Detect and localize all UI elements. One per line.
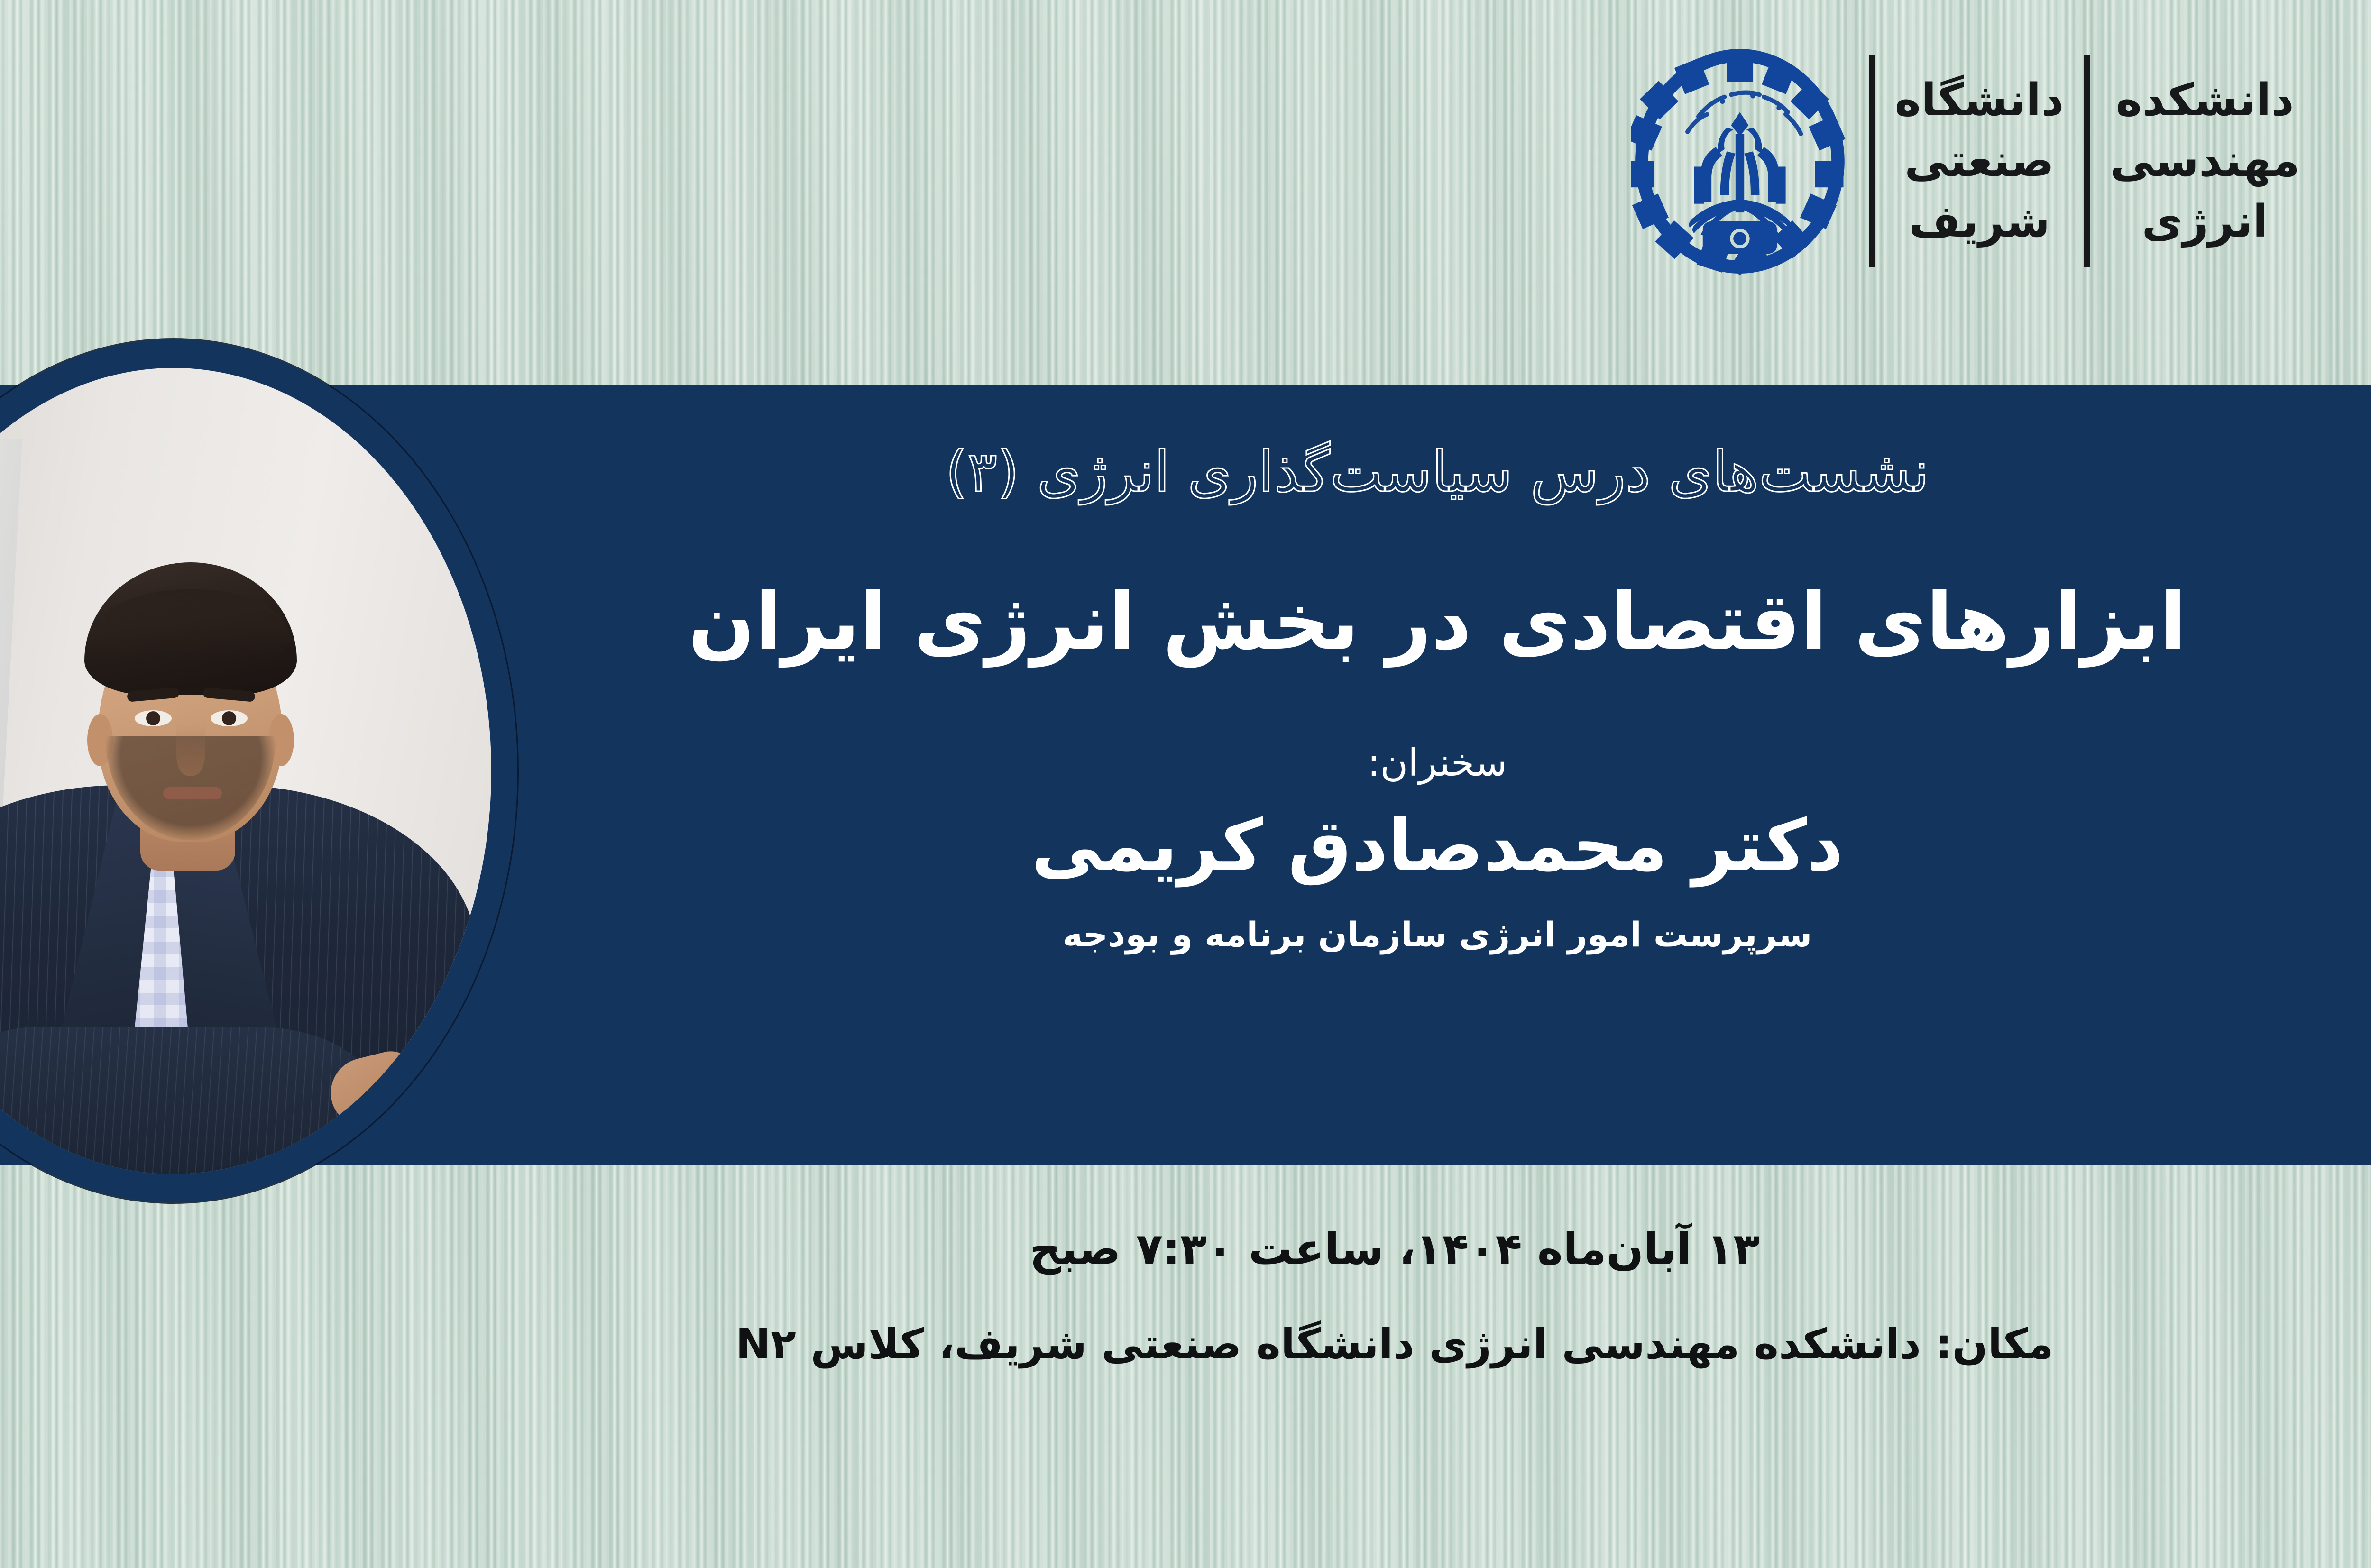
sharif-university-logo-icon xyxy=(1631,43,1849,280)
photo-eye-right xyxy=(211,710,248,726)
photo-crossed-arms xyxy=(0,1027,382,1174)
faculty-line-2: مهندسی xyxy=(2110,131,2300,192)
university-line-3: شریف xyxy=(1909,192,2050,252)
photo-mouth xyxy=(163,787,222,799)
speaker-name: دکتر محمدصادق کریمی xyxy=(574,805,2300,887)
series-subtitle: نشست‌های درس سیاست‌گذاری انرژی (۳) xyxy=(574,413,2300,507)
header-divider-left xyxy=(2084,55,2090,267)
poster-footer: ۱۳ آبان‌ماه ۱۴۰۴، ساعت ۷:۳۰ صبح مکان: دا… xyxy=(489,1223,2300,1369)
faculty-name-column: دانشکده مهندسی انرژی xyxy=(2110,70,2300,252)
speaker-portrait-frame xyxy=(0,339,517,1202)
event-poster: دانشکده مهندسی انرژی دانشگاه صنعتی شریف xyxy=(0,0,2371,1568)
university-line-1: دانشگاه xyxy=(1895,70,2064,131)
event-date-time: ۱۳ آبان‌ماه ۱۴۰۴، ساعت ۷:۳۰ صبح xyxy=(489,1223,2300,1275)
page-title: ابزارهای اقتصادی در بخش انرژی ایران xyxy=(574,575,2300,669)
header-divider-right xyxy=(1869,55,1875,267)
university-name-column: دانشگاه صنعتی شریف xyxy=(1895,70,2064,252)
speaker-portrait-photo xyxy=(0,368,491,1174)
faculty-line-1: دانشکده xyxy=(2116,70,2294,131)
band-text-block: نشست‌های درس سیاست‌گذاری انرژی (۳) ابزار… xyxy=(574,413,2300,954)
university-line-2: صنعتی xyxy=(1904,131,2054,192)
photo-eye-left xyxy=(135,710,172,726)
poster-header: دانشکده مهندسی انرژی دانشگاه صنعتی شریف xyxy=(1631,43,2300,280)
speaker-affiliation: سرپرست امور انرژی سازمان برنامه و بودجه xyxy=(574,915,2300,954)
speaker-label: سخنران: xyxy=(574,741,2300,785)
faculty-line-3: انرژی xyxy=(2142,192,2268,252)
photo-nose xyxy=(176,724,205,776)
event-location: مکان: دانشکده مهندسی انرژی دانشگاه صنعتی… xyxy=(489,1319,2300,1369)
